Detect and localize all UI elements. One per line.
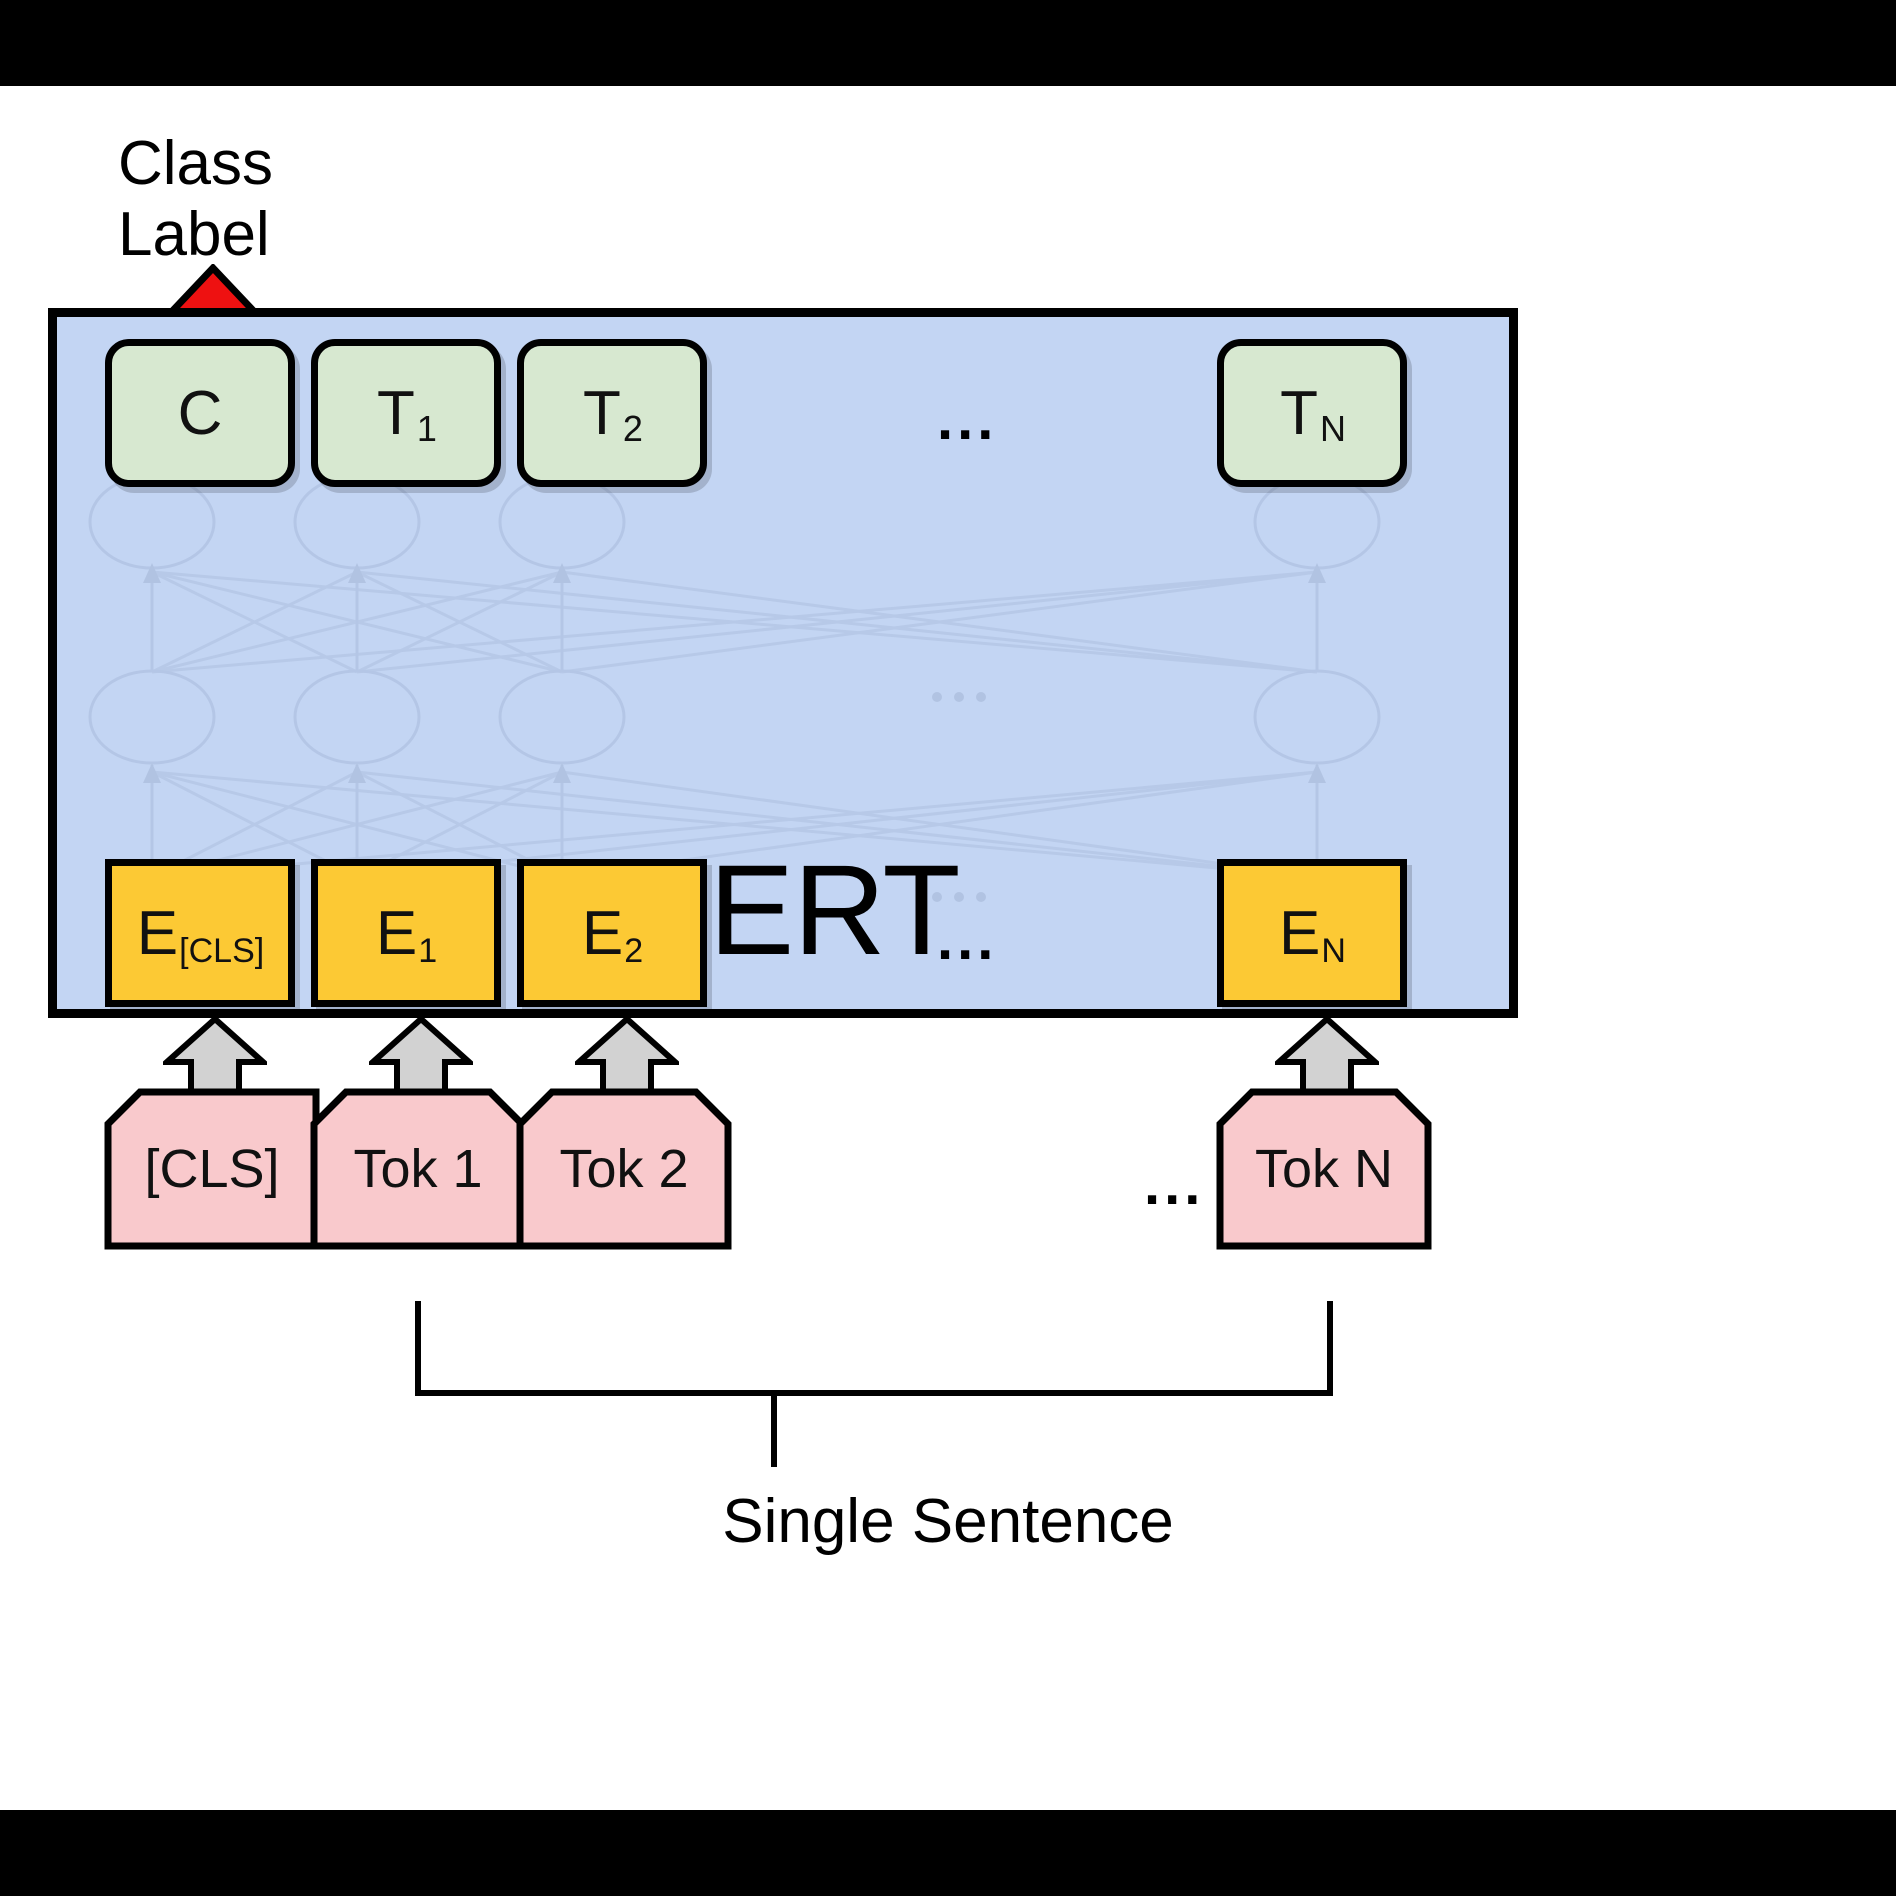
input-token-2: Tok 2 <box>516 1088 732 1250</box>
embedding-cls-sub: [CLS] <box>179 932 264 971</box>
embedding-e2: E2 <box>517 859 707 1007</box>
embedding-en-sub: N <box>1321 932 1346 971</box>
embedding-e2-sub: 2 <box>624 932 643 971</box>
embedding-e1-label: E <box>376 898 417 969</box>
input-token-cls-label: [CLS] <box>144 1138 279 1200</box>
input-arrow-tok1-icon <box>369 1016 473 1094</box>
output-token-cls-label: C <box>178 378 223 449</box>
output-token-t2-label: T <box>583 378 621 449</box>
output-token-tn: TN <box>1217 339 1407 487</box>
embedding-en-label: E <box>1279 898 1320 969</box>
embedding-cls-label: E <box>137 898 178 969</box>
input-arrow-tokn-icon <box>1275 1016 1379 1094</box>
output-token-tn-sub: N <box>1320 408 1346 450</box>
output-token-t1-label: T <box>377 378 415 449</box>
input-token-1: Tok 1 <box>310 1088 526 1250</box>
embedding-e1-sub: 1 <box>418 932 437 971</box>
input-token-cls: [CLS] <box>104 1088 320 1250</box>
input-arrow-cls-icon <box>163 1016 267 1094</box>
output-token-t1: T1 <box>311 339 501 487</box>
bert-encoder-box: BERT C T1 T2 ... TN E[CL <box>48 308 1518 1018</box>
output-token-tn-label: T <box>1280 378 1318 449</box>
output-token-t2: T2 <box>517 339 707 487</box>
embedding-row-ellipsis: ... <box>937 911 997 969</box>
output-row-ellipsis: ... <box>937 391 997 449</box>
diagram-canvas: Class Label <box>0 86 1896 1810</box>
input-token-n-label: Tok N <box>1255 1138 1393 1200</box>
diagram-root: Class Label <box>0 0 1896 1896</box>
output-token-cls: C <box>105 339 295 487</box>
class-label-text: Class Label <box>118 128 448 271</box>
input-token-n: Tok N <box>1216 1088 1432 1250</box>
input-token-1-label: Tok 1 <box>353 1138 482 1200</box>
embedding-e2-label: E <box>582 898 623 969</box>
output-token-t1-sub: 1 <box>417 408 437 450</box>
embedding-en: EN <box>1217 859 1407 1007</box>
embedding-row: E[CLS] E1 E2 ... EN <box>57 859 1527 1007</box>
embedding-e1: E1 <box>311 859 501 1007</box>
input-arrow-tok2-icon <box>575 1016 679 1094</box>
input-row-ellipsis: ... <box>1144 1156 1204 1214</box>
embedding-cls: E[CLS] <box>105 859 295 1007</box>
output-token-row: C T1 T2 ... TN <box>57 339 1527 487</box>
sentence-caption: Single Sentence <box>0 1486 1896 1557</box>
output-token-t2-sub: 2 <box>623 408 643 450</box>
sentence-bracket <box>330 1301 1510 1471</box>
input-token-2-label: Tok 2 <box>559 1138 688 1200</box>
